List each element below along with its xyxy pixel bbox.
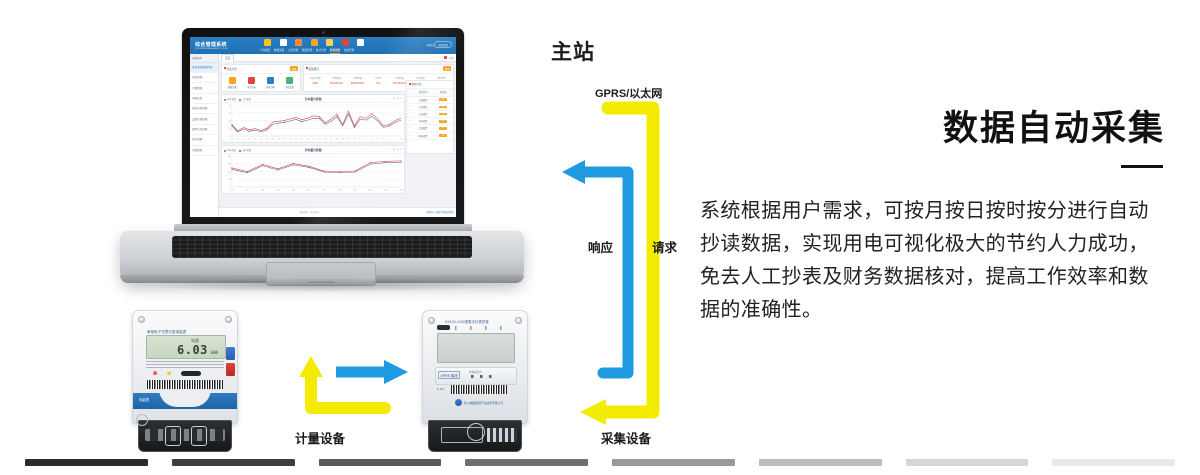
footer-links[interactable]: 帮助中心 使用手册 联系我们 [427, 210, 454, 214]
svg-text:22: 22 [301, 139, 303, 141]
calendar-icon[interactable] [295, 39, 302, 46]
svg-text:11月: 11月 [384, 188, 388, 192]
download-icon[interactable]: ⬇ [400, 97, 402, 100]
svg-text:7: 7 [395, 139, 396, 141]
app-main-menu[interactable]: 平台概览 数据采集 日常管理 数据管理 统计分析 能耗视图 系统管理 [260, 48, 354, 54]
meter1-screw-left [138, 316, 145, 323]
sidebar-item-4[interactable]: 能耗分析管理 [190, 104, 218, 114]
collector-arrowhead [384, 360, 408, 384]
svg-text:1: 1 [360, 139, 361, 141]
sidebar-item-5[interactable]: 设备台账管理 [190, 114, 218, 124]
svg-text:8: 8 [401, 139, 402, 141]
chart-monthly-plot: 3502631758801月2月3月4月5月6月7月8月9月10月11月12月 [222, 153, 404, 193]
list-icon[interactable] [311, 39, 318, 46]
svg-text:3月: 3月 [261, 188, 264, 192]
alarm-row-value: 15 [433, 132, 453, 139]
svg-text:7月: 7月 [323, 188, 326, 192]
alarm-row-type: 欠流报警 [413, 125, 433, 132]
bottom-bar-0 [25, 459, 148, 466]
request-arrowhead [580, 399, 606, 425]
app-user-area[interactable]: 管理员 退出登录 [423, 40, 452, 49]
meter2-lcd [437, 333, 515, 363]
stats-card-more-button[interactable]: 更多 [443, 66, 451, 71]
request-label: 请求 [652, 240, 665, 257]
svg-text:24: 24 [313, 139, 315, 141]
svg-text:18: 18 [278, 139, 280, 141]
settings-icon[interactable] [357, 39, 364, 46]
meter2-terminal-strip [487, 428, 517, 442]
chart-monthly-svg: 3502631758801月2月3月4月5月6月7月8月9月10月11月12月 [222, 153, 404, 193]
status-badge: 20 [439, 106, 447, 109]
meter2-status-leds [455, 326, 513, 330]
svg-text:12: 12 [243, 139, 245, 141]
chart-monthly-title: 月电量分析图 [305, 148, 322, 152]
stat-0-value: 98% [305, 81, 326, 85]
svg-text:14: 14 [254, 139, 256, 141]
alarm-table-title: 报警信息 [407, 81, 453, 90]
svg-text:27: 27 [330, 139, 332, 141]
bottom-bar-7 [1052, 459, 1175, 466]
stat-0-label: 计量点总数 [305, 77, 326, 80]
bottom-bar-5 [759, 459, 882, 466]
sidebar-item-2[interactable]: 计量管理 [190, 83, 218, 93]
meter1-terminal-clamp-1 [165, 426, 181, 446]
svg-text:4: 4 [377, 139, 378, 141]
laptop-screen: 综合管理系统 INTEGRATED MANAGEMENT SYSTEM [190, 37, 456, 217]
quick-action-3[interactable]: 系统设置 [281, 77, 298, 89]
app-body: 功能菜单 能耗监测数据管理 抄表管理 计量管理 用电分析 能耗分析管理 设备台账… [190, 54, 456, 217]
meter2-barcode [451, 385, 507, 394]
status-badge: 200 [439, 120, 448, 123]
sidebar-item-0[interactable]: 能耗监测数据管理 [190, 63, 218, 73]
app-logo: 综合管理系统 INTEGRATED MANAGEMENT SYSTEM [195, 41, 228, 50]
meter1-screw-right [225, 316, 232, 323]
stat-2-label: 月用电量 [347, 77, 368, 80]
chart-daily-plot: 8060402001011121314151617181920212223242… [222, 102, 404, 142]
svg-text:13: 13 [248, 139, 250, 141]
table-row[interactable]: 4窃电报警200 [407, 118, 453, 125]
alarm-row-value: 20 [433, 103, 453, 110]
app-menu-item-1[interactable]: 数据采集 [274, 48, 284, 54]
app-header: 综合管理系统 INTEGRATED MANAGEMENT SYSTEM [190, 37, 456, 54]
app-logo-subtext: INTEGRATED MANAGEMENT SYSTEM [195, 48, 228, 50]
app-footer: 版权所有 · 技术支持 帮助中心 使用手册 联系我们 [219, 207, 456, 217]
bar-chart-icon[interactable]: ▤ [393, 97, 395, 100]
svg-text:23: 23 [307, 139, 309, 141]
status-badge: 100 [439, 98, 448, 101]
legend-item-3[interactable]: 去年电量 [239, 148, 251, 152]
meter1-blue-button[interactable] [226, 347, 235, 360]
response-arrowhead [562, 160, 585, 184]
svg-text:3: 3 [371, 139, 372, 141]
laptop-lid: 综合管理系统 INTEGRATED MANAGEMENT SYSTEM [182, 28, 464, 226]
laptop-illustration: 综合管理系统 INTEGRATED MANAGEMENT SYSTEM [112, 28, 532, 313]
bottom-bar-4 [612, 459, 735, 466]
sidebar-item-1[interactable]: 抄表管理 [190, 73, 218, 83]
meter2-module-status-label: 状态指示灯 [469, 370, 482, 374]
settings-tile-icon [286, 77, 293, 84]
svg-text:2: 2 [366, 139, 367, 141]
svg-text:60: 60 [229, 113, 232, 115]
logout-button[interactable]: 退出登录 [434, 41, 452, 48]
chart-daily-svg: 8060402001011121314151617181920212223242… [222, 102, 404, 142]
tab-home[interactable]: 首页 [221, 54, 234, 62]
collector-label: 采集设备 [601, 428, 651, 447]
svg-text:88: 88 [229, 180, 232, 182]
download-icon-2[interactable]: ⬇ [400, 148, 402, 151]
quick-actions-list: 数据采集 电子抄表 用电分析 系统设置 [222, 74, 300, 92]
quick-actions-card: 抄表方式 更多 数据采集 电子抄表 用电分析 系统设置 [221, 64, 301, 92]
title-underline [1121, 165, 1163, 169]
svg-text:12月: 12月 [399, 188, 403, 192]
svg-text:10: 10 [231, 139, 233, 141]
sidebar-item-7[interactable]: 统计管理 [190, 135, 218, 145]
stat-1-label: 日用电量 [326, 77, 347, 80]
status-badge: 20 [439, 127, 447, 130]
svg-text:21: 21 [295, 139, 297, 141]
metering-arrowhead [299, 356, 323, 377]
meter2-screw-right [515, 317, 522, 324]
stat-2: 月用电量8360KWH [347, 77, 368, 85]
network-label: GPRS/以太网 [595, 85, 662, 101]
line-chart-icon[interactable]: ▥ [396, 97, 398, 100]
request-arrow [604, 108, 653, 412]
quick-action-2[interactable]: 用电分析 [262, 77, 279, 89]
legend-item-2[interactable]: 今年电量 [224, 148, 236, 152]
app-menu-item-6[interactable]: 系统管理 [344, 48, 354, 54]
analysis-icon [267, 77, 274, 84]
sidebar-header: 功能菜单 [190, 54, 218, 63]
quick-action-2-label: 用电分析 [266, 87, 275, 89]
meter2-terminal-block [428, 420, 522, 452]
chart-daily-tools[interactable]: ▤ ▥ ⬇ [393, 97, 402, 100]
svg-text:25: 25 [318, 139, 320, 141]
meter1-body: 单相电子式预付费电能表 电量 6.03 kWh 电能表 [132, 310, 238, 424]
alarm-row-value: 200 [433, 118, 453, 125]
laptop-base [120, 231, 524, 283]
stat-3-value: 5% [368, 81, 389, 85]
status-badge: 50 [439, 113, 447, 116]
svg-text:40: 40 [229, 121, 232, 123]
tabbar-actions[interactable]: 刷新 [444, 56, 454, 60]
bar-chart-icon-2[interactable]: ▤ [393, 148, 395, 151]
svg-text:175: 175 [228, 172, 232, 174]
svg-text:15: 15 [260, 139, 262, 141]
table-row[interactable]: 5欠流报警20 [407, 125, 453, 132]
alarm-row-type: 过载报警 [413, 96, 433, 103]
svg-text:80: 80 [229, 105, 232, 107]
table-row[interactable]: 6断电报警15 [407, 132, 453, 139]
svg-text:350: 350 [228, 156, 232, 158]
sidebar-item-3[interactable]: 用电分析 [190, 94, 218, 104]
meter2-seal-wire [467, 423, 485, 441]
svg-text:28: 28 [336, 139, 338, 141]
app-main-area: 首页 刷新 抄表方式 更多 [219, 54, 456, 217]
meter2-code-label: K 0 0 [437, 387, 444, 391]
data-collector-device: HX100-1000型集中抄表终端 GPRS 模块 状态指示灯 K 0 0 长沙… [414, 310, 534, 450]
alarm-row-type: 断电报警 [413, 132, 433, 139]
meter1-terminal-clamp-2 [191, 426, 207, 446]
page-title: 数据自动采集 [700, 110, 1165, 149]
stats-card-title: 采集概况 [309, 68, 319, 71]
svg-text:263: 263 [228, 164, 232, 166]
meter2-module-label: GPRS 模块 [438, 371, 460, 379]
charts-region: 本月电量 上月电量 日电量分析图 ▤ ▥ ⬇ [219, 94, 407, 194]
legend-label-0: 本月电量 [227, 99, 236, 101]
alarm-row-type: 过压报警 [413, 110, 433, 117]
chart-monthly-tools[interactable]: ▤ ▥ ⬇ [393, 148, 402, 151]
svg-text:6: 6 [389, 139, 390, 141]
stat-3: 日环比5% [368, 77, 389, 85]
legend-item-0[interactable]: 本月电量 [224, 97, 236, 101]
meter1-lcd: 电量 6.03 kWh [146, 335, 226, 359]
meter2-screw-left [428, 317, 435, 324]
meter1-window [181, 371, 201, 377]
legend-label-2: 今年电量 [227, 150, 236, 152]
app-user-name: 管理员 [427, 44, 434, 47]
metering-arrow-yellow [311, 375, 385, 408]
meter1-brand-text: 电能表 [139, 397, 149, 402]
footer-copyright: 版权所有 · 技术支持 [300, 210, 319, 214]
quick-card-header: 抄表方式 更多 [222, 65, 300, 74]
refresh-label[interactable]: 刷新 [449, 56, 454, 60]
app-menu-item-2[interactable]: 日常管理 [288, 48, 298, 54]
description-paragraph: 系统根据用户需求，可按月按日按时按分进行自动抄读数据，实现用电可视化极大的节约人… [700, 195, 1165, 327]
alarm-table-card: 报警信息 报警类型 报警值 [406, 80, 454, 154]
laptop-keyboard[interactable] [172, 236, 472, 258]
app-menu-item-0[interactable]: 平台概览 [260, 48, 270, 54]
alarm-led [153, 371, 157, 375]
clock-icon[interactable] [326, 39, 333, 46]
meter2-brand-logo [455, 399, 462, 406]
stat-1-value: 5000KWH [326, 81, 347, 85]
alarm-table-header-row: 报警类型 报警值 [407, 89, 453, 96]
quick-card-title: 抄表方式 [227, 68, 237, 71]
bottom-bar-strip [0, 459, 1200, 467]
management-app: 综合管理系统 INTEGRATED MANAGEMENT SYSTEM [190, 37, 456, 217]
poster-canvas: 综合管理系统 INTEGRATED MANAGEMENT SYSTEM [0, 0, 1200, 475]
meter1-lcd-unit: kWh [211, 350, 218, 355]
alarm-table-body: 1过载报警1002欠压报警203过压报警504窃电报警2005欠流报警206断电… [407, 96, 453, 139]
svg-text:5: 5 [383, 139, 384, 141]
quick-card-more-button[interactable]: 更多 [290, 66, 298, 71]
sidebar-item-8[interactable]: 系统管理 [190, 146, 218, 156]
bottom-bar-1 [172, 459, 295, 466]
svg-text:20: 20 [229, 129, 232, 131]
meter1-terminal-block [138, 420, 232, 452]
app-toolbar-icons[interactable] [264, 39, 364, 46]
stats-card-header: 采集概况 更多 [304, 65, 453, 74]
meter1-red-button[interactable] [226, 363, 235, 376]
meter1-seal-wire [136, 414, 148, 426]
svg-text:8月: 8月 [338, 188, 341, 192]
table-row[interactable]: 2欠压报警20 [407, 103, 453, 110]
alarm-row-value: 50 [433, 110, 453, 117]
data-collect-icon [229, 77, 236, 84]
chart-card-monthly: 今年电量 去年电量 月电量分析图 ▤ ▥ ⬇ [221, 145, 405, 194]
quick-action-1-label: 电子抄表 [247, 87, 256, 89]
stat-1: 日用电量5000KWH [326, 77, 347, 85]
meter1-lcd-value: 6.03 [177, 343, 208, 357]
svg-text:30: 30 [347, 139, 349, 141]
meter2-brand-text: 长沙威胜集团产业技术有限公司 [464, 401, 503, 405]
chart-monthly-legend: 今年电量 去年电量 [224, 148, 251, 152]
meter1-model-label: 单相电子式预付费电能表 [147, 329, 187, 334]
response-arrow [583, 172, 628, 373]
stat-0: 计量点总数98% [305, 77, 326, 85]
alarm-row-type: 窃电报警 [413, 118, 433, 125]
meter2-module-leds [471, 375, 497, 378]
svg-text:6月: 6月 [307, 188, 310, 192]
stat-2-value: 8360KWH [347, 81, 368, 85]
meter1-barcode [147, 380, 223, 389]
chart-daily-legend: 本月电量 上月电量 [224, 97, 251, 101]
svg-text:10月: 10月 [368, 188, 372, 192]
mail-icon[interactable] [342, 39, 349, 46]
svg-text:11: 11 [237, 139, 239, 141]
alert-icon[interactable] [264, 39, 271, 46]
chart-daily-title: 日电量分析图 [305, 97, 322, 101]
svg-text:20: 20 [289, 139, 291, 141]
svg-text:9月: 9月 [353, 188, 356, 192]
app-menu-item-3[interactable]: 数据管理 [302, 48, 312, 54]
svg-text:5月: 5月 [292, 188, 295, 192]
meter2-body: HX100-1000型集中抄表终端 GPRS 模块 状态指示灯 K 0 0 长沙… [422, 310, 528, 424]
single-phase-meter: 单相电子式预付费电能表 电量 6.03 kWh 电能表 [124, 310, 244, 450]
legend-item-1[interactable]: 上月电量 [239, 97, 251, 101]
app-sidebar: 功能菜单 能耗监测数据管理 抄表管理 计量管理 用电分析 能耗分析管理 设备台账… [190, 54, 219, 217]
legend-label-3: 去年电量 [242, 150, 251, 152]
meter1-spec-text [146, 359, 224, 368]
svg-text:29: 29 [342, 139, 344, 141]
response-label: 响应 [588, 240, 601, 257]
app-menu-item-4[interactable]: 统计分析 [316, 48, 326, 54]
pulse-led [167, 371, 171, 375]
svg-text:16: 16 [266, 139, 268, 141]
status-badge: 15 [439, 134, 447, 137]
meter2-model-label: HX100-1000型集中抄表终端 [445, 319, 489, 324]
bottom-bar-2 [319, 459, 442, 466]
stat-3-label: 日环比 [368, 77, 389, 80]
alarm-row-value: 100 [433, 96, 453, 103]
table-row[interactable]: 3过压报警50 [407, 110, 453, 117]
quick-action-0[interactable]: 数据采集 [224, 77, 241, 89]
quick-action-0-label: 数据采集 [228, 87, 237, 89]
svg-text:4月: 4月 [277, 188, 280, 192]
text-column: 数据自动采集 系统根据用户需求，可按月按日按时按分进行自动抄读数据，实现用电可视… [700, 110, 1165, 327]
master-station-label: 主站 [551, 36, 595, 66]
metering-label: 计量设备 [295, 428, 345, 447]
bottom-bar-3 [465, 459, 588, 466]
app-menu-item-5[interactable]: 能耗视图 [330, 48, 340, 54]
chart-card-daily: 本月电量 上月电量 日电量分析图 ▤ ▥ ⬇ [221, 94, 405, 143]
legend-label-1: 上月电量 [242, 99, 251, 101]
laptop-shadow [134, 278, 510, 292]
quick-action-1[interactable]: 电子抄表 [243, 77, 260, 89]
svg-text:31: 31 [353, 139, 355, 141]
meter-read-icon [248, 77, 255, 84]
alarm-row-type: 欠压报警 [413, 103, 433, 110]
alarm-col-value: 报警值 [433, 89, 453, 96]
svg-text:17: 17 [272, 139, 274, 141]
svg-text:19: 19 [283, 139, 285, 141]
edit-icon[interactable] [280, 39, 287, 46]
svg-text:26: 26 [324, 139, 326, 141]
table-row[interactable]: 1过载报警100 [407, 96, 453, 103]
svg-text:2月: 2月 [246, 188, 249, 192]
alarm-col-type: 报警类型 [413, 89, 433, 96]
app-tabbar: 首页 刷新 [219, 54, 456, 62]
bottom-bar-6 [906, 459, 1029, 466]
line-chart-icon-2[interactable]: ▥ [396, 148, 398, 151]
sidebar-item-6[interactable]: 报警公告管理 [190, 125, 218, 135]
meter1-terminal-screws [145, 429, 225, 441]
quick-action-3-label: 系统设置 [285, 87, 294, 89]
meter2-ir-port [437, 325, 450, 330]
close-icon[interactable] [444, 56, 447, 59]
alarm-row-value: 20 [433, 125, 453, 132]
alarm-table: 报警类型 报警值 1过载报警1002欠压报警203过压报警504窃电报警2005… [407, 89, 453, 140]
